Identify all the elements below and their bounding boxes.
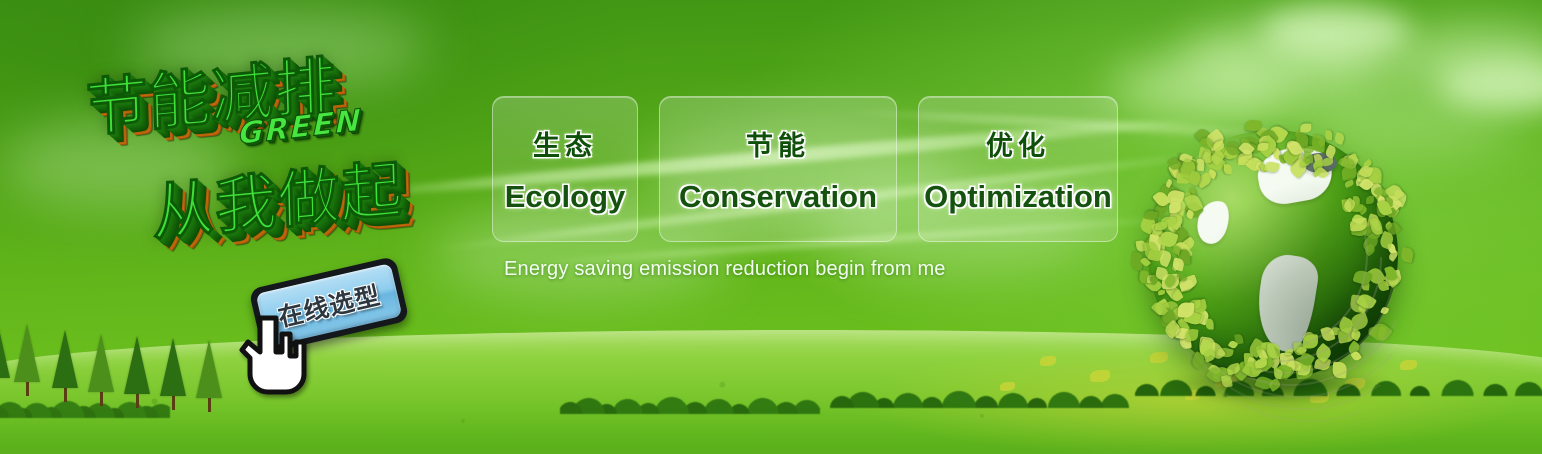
feature-card-conservation[interactable]: 节能 Conservation bbox=[659, 96, 897, 242]
hand-pointer-icon bbox=[238, 312, 312, 396]
ivy-covered-globe-icon bbox=[1148, 130, 1398, 380]
feature-card-cn-label: 优化 bbox=[986, 124, 1050, 163]
feature-card-en-label: Conservation bbox=[679, 179, 877, 215]
tagline-text: Energy saving emission reduction begin f… bbox=[504, 258, 946, 281]
feature-card-ecology[interactable]: 生态 Ecology bbox=[492, 96, 638, 242]
eco-promo-banner: 节能减排 从我做起 GREEN 在线选型 生态 Ecology 节能 Conse… bbox=[0, 0, 1542, 454]
feature-card-cn-label: 节能 bbox=[746, 124, 810, 163]
feature-card-cn-label: 生态 bbox=[533, 124, 597, 163]
feature-card-en-label: Ecology bbox=[505, 179, 626, 215]
feature-card-en-label: Optimization bbox=[924, 179, 1112, 215]
headline-3d-text: 节能减排 从我做起 GREEN bbox=[81, 18, 522, 297]
feature-card-optimization[interactable]: 优化 Optimization bbox=[918, 96, 1118, 242]
headline-line-2: 从我做起 bbox=[151, 128, 516, 253]
